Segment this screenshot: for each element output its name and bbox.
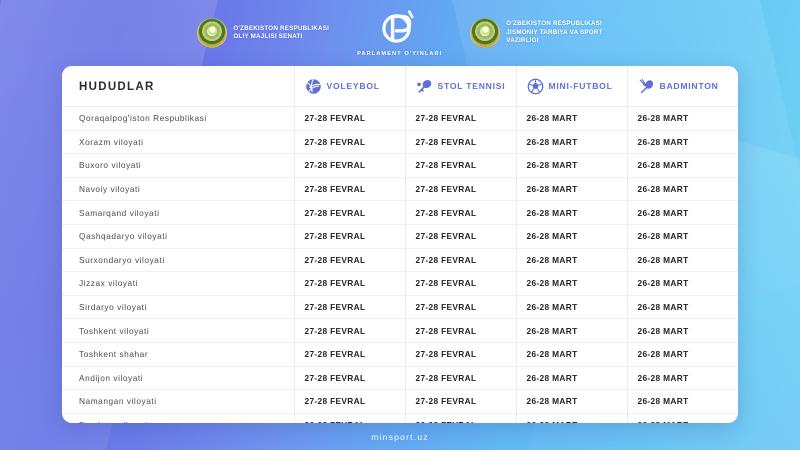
schedule-value: 26-28 MART	[627, 107, 738, 131]
region-name: Samarqand viloyati	[62, 201, 294, 225]
schedule-value: 26-28 MART	[516, 130, 627, 154]
badminton-icon	[638, 78, 655, 95]
schedule-value: 26-28 MART	[516, 107, 627, 131]
schedule-value: 26-28 MART	[516, 177, 627, 201]
region-name: Xorazm viloyati	[62, 130, 294, 154]
region-name: Buxoro viloyati	[62, 154, 294, 178]
column-header-badminton: BADMINTON	[627, 66, 738, 107]
schedule-value: 26-28 MART	[627, 319, 738, 343]
schedule-value: 26-28 MART	[627, 154, 738, 178]
sport-label: BADMINTON	[660, 81, 719, 91]
table-header: HUDUDLAR VOLEYBOL	[62, 66, 738, 107]
schedule-value: 26-28 MART	[516, 201, 627, 225]
region-name: Qoraqalpog'iston Respublikasi	[62, 107, 294, 131]
poster-footer: minsport.uz	[0, 427, 800, 445]
schedule-value: 26-28 MART	[627, 248, 738, 272]
table-row: Navoiy viloyati 27-28 FEVRAL 27-28 FEVRA…	[62, 177, 738, 201]
schedule-value: 27-28 FEVRAL	[294, 224, 405, 248]
table-body: Qoraqalpog'iston Respublikasi 27-28 FEVR…	[62, 107, 738, 424]
source-site-label: minsport.uz	[371, 432, 429, 442]
column-header-mini-futbol: MINI-FUTBOL	[516, 66, 627, 107]
schedule-value: 26-28 MART	[516, 248, 627, 272]
schedule-value: 27-28 FEVRAL	[405, 130, 516, 154]
schedule-value: 26-28 MART	[627, 130, 738, 154]
schedule-card: HUDUDLAR VOLEYBOL	[62, 66, 738, 423]
sport-label: STOL TENNISI	[438, 81, 506, 91]
schedule-value: 26-28 MART	[516, 319, 627, 343]
schedule-value: 27-28 FEVRAL	[405, 177, 516, 201]
region-name: Toshkent shahar	[62, 342, 294, 366]
region-name: Andijon viloyati	[62, 366, 294, 390]
senate-emblem-block: O'ZBEKISTON RESPUBLIKASI OLIY MAJLISI SE…	[197, 18, 329, 48]
column-header-voleybol: VOLEYBOL	[294, 66, 405, 107]
schedule-value: 27-28 FEVRAL	[405, 154, 516, 178]
region-name: Sirdaryo viloyati	[62, 295, 294, 319]
schedule-value: 27-28 FEVRAL	[294, 366, 405, 390]
schedule-value: 27-28 FEVRAL	[405, 390, 516, 414]
sport-label: MINI-FUTBOL	[549, 81, 613, 91]
table-tennis-icon	[416, 78, 433, 95]
schedule-value: 26-28 MART	[627, 413, 738, 423]
schedule-value: 27-28 FEVRAL	[405, 366, 516, 390]
parlament-oyinlari-logo: PARLAMENT O'YINLARI	[357, 7, 442, 57]
column-header-regions: HUDUDLAR	[62, 66, 294, 107]
region-name: Qashqadaryo viloyati	[62, 224, 294, 248]
schedule-value: 27-28 FEVRAL	[405, 319, 516, 343]
schedule-value: 26-28 MART	[627, 177, 738, 201]
schedule-value: 27-28 FEVRAL	[294, 154, 405, 178]
schedule-value: 26-28 MART	[516, 342, 627, 366]
schedule-value: 27-28 FEVRAL	[405, 224, 516, 248]
schedule-value: 26-28 MART	[516, 366, 627, 390]
schedule-value: 27-28 FEVRAL	[294, 130, 405, 154]
region-name: Toshkent viloyati	[62, 319, 294, 343]
parlament-oyinlari-p-logo-icon	[379, 7, 421, 49]
volleyball-icon	[305, 78, 322, 95]
poster-header: O'ZBEKISTON RESPUBLIKASI OLIY MAJLISI SE…	[0, 0, 800, 66]
schedule-value: 26-28 MART	[516, 413, 627, 423]
schedule-value: 27-28 FEVRAL	[405, 248, 516, 272]
table-row: Surxondaryo viloyati 27-28 FEVRAL 27-28 …	[62, 248, 738, 272]
table-row: Qoraqalpog'iston Respublikasi 27-28 FEVR…	[62, 107, 738, 131]
table-row: Namangan viloyati 27-28 FEVRAL 27-28 FEV…	[62, 390, 738, 414]
sport-label: VOLEYBOL	[327, 81, 380, 91]
table-row: Sirdaryo viloyati 27-28 FEVRAL 27-28 FEV…	[62, 295, 738, 319]
schedule-value: 26-28 MART	[627, 201, 738, 225]
schedule-value: 26-28 FEVRAL	[294, 413, 405, 423]
soccer-ball-icon	[527, 78, 544, 95]
table-row: Toshkent viloyati 27-28 FEVRAL 27-28 FEV…	[62, 319, 738, 343]
table-row: Samarqand viloyati 27-28 FEVRAL 27-28 FE…	[62, 201, 738, 225]
parlament-oyinlari-caption: PARLAMENT O'YINLARI	[357, 51, 442, 57]
schedule-value: 27-28 FEVRAL	[405, 342, 516, 366]
table-row: Jizzax viloyati 27-28 FEVRAL 27-28 FEVRA…	[62, 272, 738, 296]
schedule-value: 26-28 MART	[627, 390, 738, 414]
poster-canvas: O'ZBEKISTON RESPUBLIKASI OLIY MAJLISI SE…	[0, 0, 800, 450]
header-row: HUDUDLAR VOLEYBOL	[62, 66, 738, 107]
region-name: Surxondaryo viloyati	[62, 248, 294, 272]
schedule-value: 27-28 FEVRAL	[294, 177, 405, 201]
column-header-stol-tennisi: STOL TENNISI	[405, 66, 516, 107]
ministry-emblem-label: O'ZBEKISTON RESPUBLIKASI JISMONIY TARBIY…	[506, 20, 602, 45]
schedule-value: 27-28 FEVRAL	[405, 272, 516, 296]
table-row: Buxoro viloyati 27-28 FEVRAL 27-28 FEVRA…	[62, 154, 738, 178]
schedule-value: 26-28 MART	[516, 272, 627, 296]
uzbekistan-coat-of-arms-icon	[197, 18, 227, 48]
region-name: Navoiy viloyati	[62, 177, 294, 201]
regions-header-label: HUDUDLAR	[79, 81, 155, 93]
schedule-value: 27-28 FEVRAL	[294, 201, 405, 225]
schedule-value: 27-28 FEVRAL	[405, 107, 516, 131]
table-row: Qashqadaryo viloyati 27-28 FEVRAL 27-28 …	[62, 224, 738, 248]
schedule-value: 27-28 FEVRAL	[294, 342, 405, 366]
senate-emblem-label: O'ZBEKISTON RESPUBLIKASI OLIY MAJLISI SE…	[233, 25, 329, 42]
schedule-value: 26-28 MART	[516, 295, 627, 319]
schedule-value: 27-28 FEVRAL	[294, 107, 405, 131]
table-row: Farg'ona viloyati 26-28 FEVRAL 26-28 FEV…	[62, 413, 738, 423]
schedule-value: 27-28 FEVRAL	[294, 319, 405, 343]
uzbekistan-coat-of-arms-icon	[470, 18, 500, 48]
schedule-value: 27-28 FEVRAL	[294, 390, 405, 414]
table-row: Andijon viloyati 27-28 FEVRAL 27-28 FEVR…	[62, 366, 738, 390]
schedule-value: 26-28 MART	[516, 390, 627, 414]
table-row: Toshkent shahar 27-28 FEVRAL 27-28 FEVRA…	[62, 342, 738, 366]
table-row: Xorazm viloyati 27-28 FEVRAL 27-28 FEVRA…	[62, 130, 738, 154]
schedule-value: 26-28 MART	[627, 295, 738, 319]
schedule-value: 26-28 MART	[516, 224, 627, 248]
region-name: Farg'ona viloyati	[62, 413, 294, 423]
schedule-value: 27-28 FEVRAL	[405, 201, 516, 225]
schedule-value: 26-28 MART	[627, 272, 738, 296]
schedule-value: 26-28 MART	[627, 366, 738, 390]
schedule-value: 26-28 FEVRAL	[405, 413, 516, 423]
schedule-value: 26-28 MART	[516, 154, 627, 178]
schedule-value: 27-28 FEVRAL	[405, 295, 516, 319]
ministry-emblem-block: O'ZBEKISTON RESPUBLIKASI JISMONIY TARBIY…	[470, 18, 602, 48]
region-name: Jizzax viloyati	[62, 272, 294, 296]
schedule-value: 26-28 MART	[627, 342, 738, 366]
schedule-value: 27-28 FEVRAL	[294, 248, 405, 272]
schedule-value: 27-28 FEVRAL	[294, 272, 405, 296]
region-name: Namangan viloyati	[62, 390, 294, 414]
schedule-value: 27-28 FEVRAL	[294, 295, 405, 319]
schedule-table: HUDUDLAR VOLEYBOL	[62, 66, 738, 423]
schedule-value: 26-28 MART	[627, 224, 738, 248]
